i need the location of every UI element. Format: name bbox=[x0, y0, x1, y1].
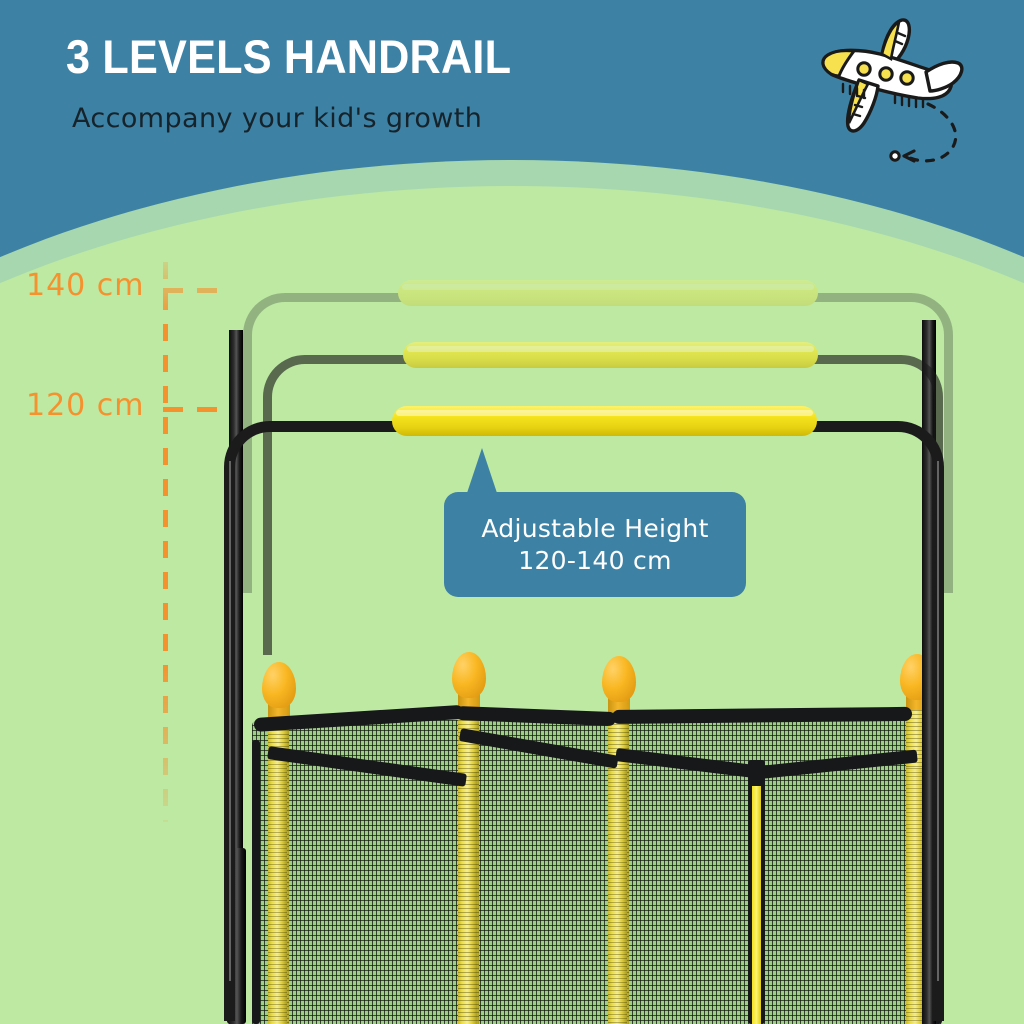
page-subtitle: Accompany your kid's growth bbox=[72, 103, 482, 134]
page-title: 3 LEVELS HANDRAIL bbox=[66, 32, 511, 81]
callout-pointer-icon bbox=[466, 448, 498, 496]
promo-graphic: 3 LEVELS HANDRAIL Accompany your kid's g… bbox=[0, 0, 1024, 1024]
measurement-tick-140 bbox=[163, 288, 227, 293]
handrail-leg-highlight bbox=[937, 461, 939, 981]
callout-line-2: 120-140 cm bbox=[518, 545, 672, 577]
callout-line-1: Adjustable Height bbox=[481, 513, 708, 545]
callout-adjustable-height: Adjustable Height 120-140 cm bbox=[444, 492, 746, 597]
measurement-label-120: 120 cm bbox=[26, 388, 145, 423]
airplane-doodle-icon bbox=[798, 16, 988, 166]
handrail-grip bbox=[403, 342, 818, 368]
handrail-grip bbox=[392, 406, 817, 436]
handrail-leg-highlight bbox=[229, 461, 231, 981]
handrail-grip bbox=[398, 280, 818, 306]
measurement-tick-120 bbox=[163, 407, 227, 412]
measurement-label-140: 140 cm bbox=[26, 268, 145, 303]
